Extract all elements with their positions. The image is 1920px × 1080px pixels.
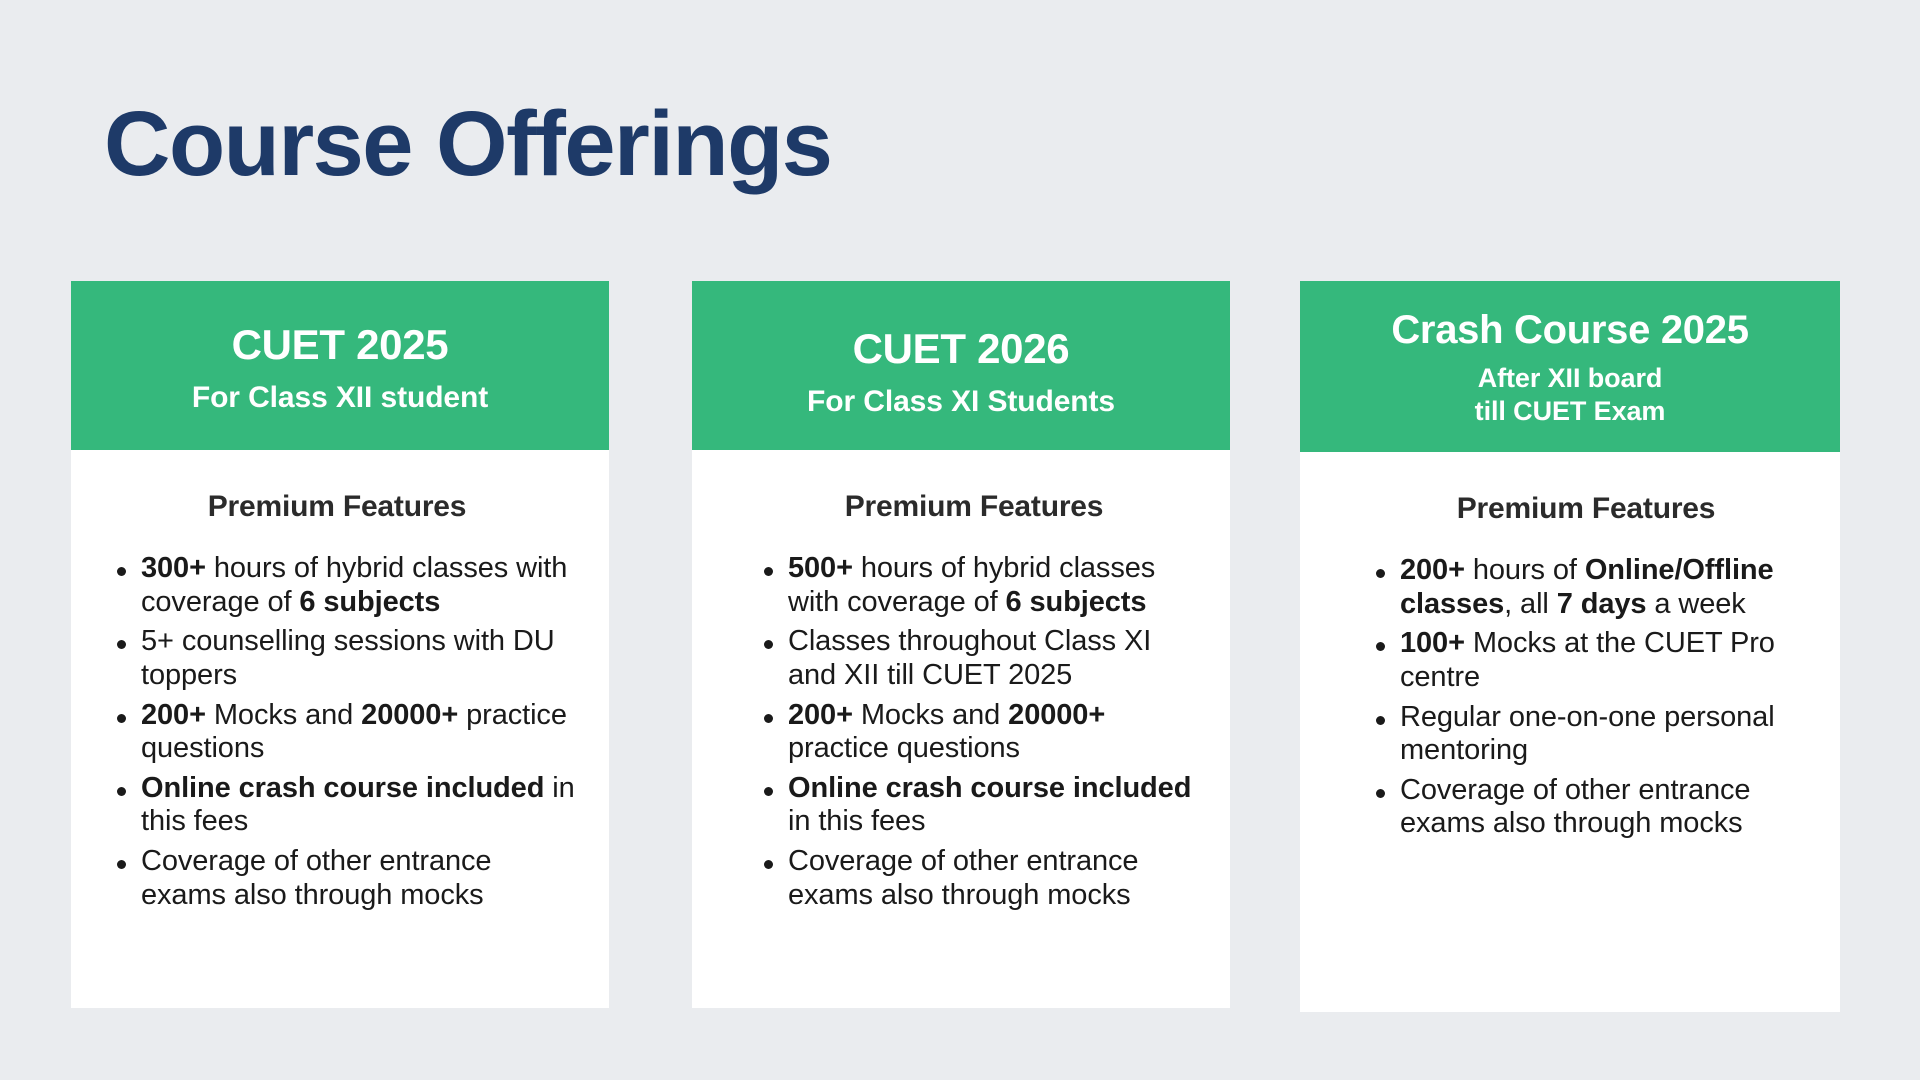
feature-emphasis: 200+	[788, 699, 853, 731]
card-header-title: CUET 2025	[232, 320, 449, 370]
card-body: Premium Features 500+ hours of hybrid cl…	[692, 450, 1230, 1008]
card-body: Premium Features 200+ hours of Online/Of…	[1300, 452, 1840, 1012]
feature-emphasis: 500+	[788, 552, 853, 584]
feature-text: Regular one-on-one personal mentoring	[1400, 701, 1775, 767]
feature-list-item: Classes throughout Class XI and XII till…	[742, 625, 1206, 692]
feature-emphasis: 20000+	[361, 699, 458, 731]
feature-emphasis: Online crash course included	[788, 772, 1191, 804]
course-card-cuet-2025[interactable]: CUET 2025 For Class XII student Premium …	[71, 281, 609, 1008]
course-card-cuet-2026[interactable]: CUET 2026 For Class XI Students Premium …	[692, 281, 1230, 1008]
card-header-subtitle: For Class XII student	[192, 380, 488, 417]
feature-emphasis: 7 days	[1557, 588, 1647, 620]
feature-text: Coverage of other entrance exams also th…	[1400, 774, 1750, 840]
feature-list: 200+ hours of Online/Offline classes, al…	[1354, 554, 1818, 841]
feature-list-item: 500+ hours of hybrid classes with covera…	[742, 552, 1206, 619]
card-body: Premium Features 300+ hours of hybrid cl…	[71, 450, 609, 1008]
feature-emphasis: 300+	[141, 552, 206, 584]
feature-text: Classes throughout Class XI and XII till…	[788, 625, 1151, 691]
features-heading: Premium Features	[1354, 492, 1818, 526]
feature-text: Mocks and	[206, 699, 361, 731]
feature-list-item: 5+ counselling sessions with DU toppers	[95, 625, 579, 692]
features-heading: Premium Features	[95, 490, 579, 524]
feature-list: 500+ hours of hybrid classes with covera…	[742, 552, 1206, 912]
card-header-subtitle-line1: For Class XII student	[192, 381, 488, 414]
features-heading: Premium Features	[742, 490, 1206, 524]
feature-emphasis: 6 subjects	[299, 586, 440, 618]
feature-text: hours of	[1465, 554, 1585, 586]
card-header-title: Crash Course 2025	[1391, 307, 1748, 354]
feature-list-item: Coverage of other entrance exams also th…	[1354, 774, 1818, 841]
card-header-title: CUET 2026	[853, 324, 1070, 374]
feature-emphasis: 200+	[141, 699, 206, 731]
feature-list: 300+ hours of hybrid classes with covera…	[95, 552, 579, 912]
feature-text: a week	[1646, 588, 1745, 620]
feature-list-item: 200+ Mocks and 20000+ practice questions	[742, 699, 1206, 766]
feature-list-item: 300+ hours of hybrid classes with covera…	[95, 552, 579, 619]
feature-list-item: 100+ Mocks at the CUET Pro centre	[1354, 627, 1818, 694]
feature-list-item: Regular one-on-one personal mentoring	[1354, 701, 1818, 768]
card-header-subtitle-line2: till CUET Exam	[1475, 395, 1666, 428]
feature-emphasis: 200+	[1400, 554, 1465, 586]
feature-text: Coverage of other entrance exams also th…	[141, 845, 491, 911]
feature-emphasis: 6 subjects	[1006, 586, 1147, 618]
feature-list-item: 200+ hours of Online/Offline classes, al…	[1354, 554, 1818, 621]
card-header-subtitle: After XII board till CUET Exam	[1475, 362, 1666, 428]
course-cards-container: CUET 2025 For Class XII student Premium …	[71, 281, 1853, 1012]
feature-text: Coverage of other entrance exams also th…	[788, 845, 1138, 911]
feature-text: , all	[1504, 588, 1557, 620]
card-header-subtitle-line1: For Class XI Students	[807, 385, 1115, 418]
feature-emphasis: 20000+	[1008, 699, 1105, 731]
card-header-subtitle-line1: After XII board	[1478, 363, 1663, 393]
feature-list-item: Coverage of other entrance exams also th…	[95, 845, 579, 912]
course-card-crash-course-2025[interactable]: Crash Course 2025 After XII board till C…	[1300, 281, 1840, 1012]
slide-root: Course Offerings CUET 2025 For Class XII…	[0, 0, 1920, 1080]
feature-text: 5+ counselling sessions with DU toppers	[141, 625, 555, 691]
feature-list-item: 200+ Mocks and 20000+ practice questions	[95, 699, 579, 766]
feature-list-item: Coverage of other entrance exams also th…	[742, 845, 1206, 912]
feature-text: Mocks and	[853, 699, 1008, 731]
card-header-subtitle: For Class XI Students	[807, 384, 1115, 421]
feature-emphasis: Online crash course included	[141, 772, 544, 804]
page-title: Course Offerings	[104, 96, 831, 193]
card-header: Crash Course 2025 After XII board till C…	[1300, 281, 1840, 452]
feature-list-item: Online crash course included in this fee…	[742, 772, 1206, 839]
feature-text: in this fees	[788, 805, 925, 837]
feature-list-item: Online crash course included in this fee…	[95, 772, 579, 839]
card-header: CUET 2026 For Class XI Students	[692, 281, 1230, 450]
feature-emphasis: 100+	[1400, 627, 1465, 659]
card-header: CUET 2025 For Class XII student	[71, 281, 609, 450]
feature-text: practice questions	[788, 732, 1020, 764]
